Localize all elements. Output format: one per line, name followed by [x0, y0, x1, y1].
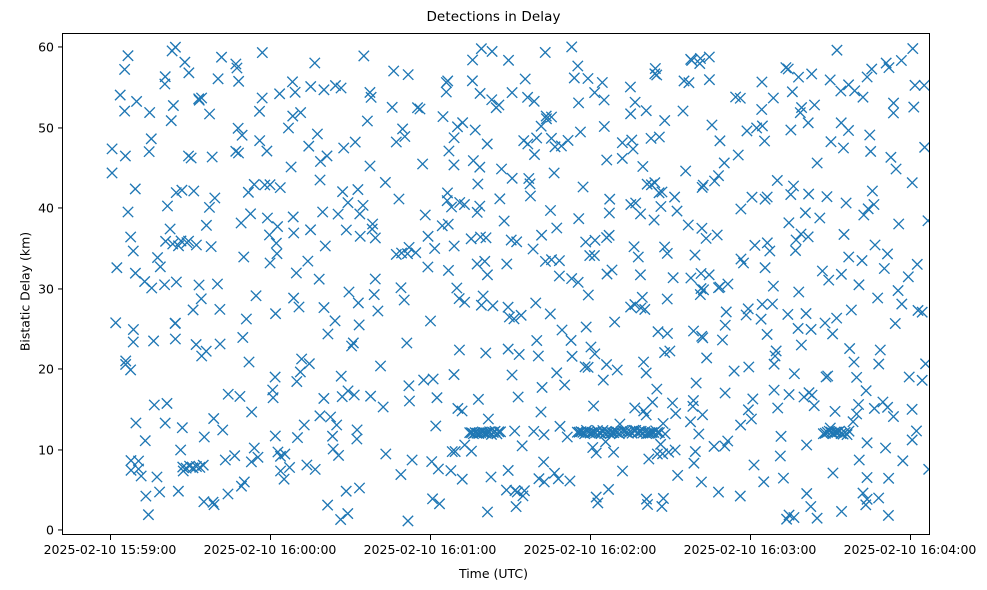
y-tick-mark	[58, 368, 63, 369]
plot-area	[62, 33, 930, 535]
y-tick-mark	[58, 46, 63, 47]
y-axis-label: Bistatic Delay (km)	[18, 162, 33, 422]
x-tick-label: 2025-02-10 15:59:00	[20, 542, 200, 557]
scatter-markers	[63, 34, 930, 535]
chart-title: Detections in Delay	[0, 9, 987, 25]
y-tick-mark	[58, 207, 63, 208]
y-tick-label: 0	[8, 523, 54, 538]
y-tick-label: 60	[8, 40, 54, 55]
y-tick-mark	[58, 449, 63, 450]
y-tick-label: 10	[8, 442, 54, 457]
x-tick-mark	[750, 535, 751, 540]
x-tick-label: 2025-02-10 16:00:00	[180, 542, 360, 557]
x-tick-label: 2025-02-10 16:04:00	[820, 542, 987, 557]
y-tick-label: 50	[8, 120, 54, 135]
x-tick-mark	[430, 535, 431, 540]
x-tick-label: 2025-02-10 16:03:00	[660, 542, 840, 557]
y-tick-mark	[58, 127, 63, 128]
x-tick-mark	[910, 535, 911, 540]
matplotlib-figure: Detections in Delay 0102030405060 2025-0…	[0, 0, 987, 590]
y-tick-mark	[58, 288, 63, 289]
y-tick-mark	[58, 529, 63, 530]
x-tick-mark	[270, 535, 271, 540]
x-tick-mark	[110, 535, 111, 540]
x-axis-label: Time (UTC)	[0, 566, 987, 581]
x-tick-mark	[590, 535, 591, 540]
x-tick-label: 2025-02-10 16:01:00	[340, 542, 520, 557]
x-tick-label: 2025-02-10 16:02:00	[500, 542, 680, 557]
